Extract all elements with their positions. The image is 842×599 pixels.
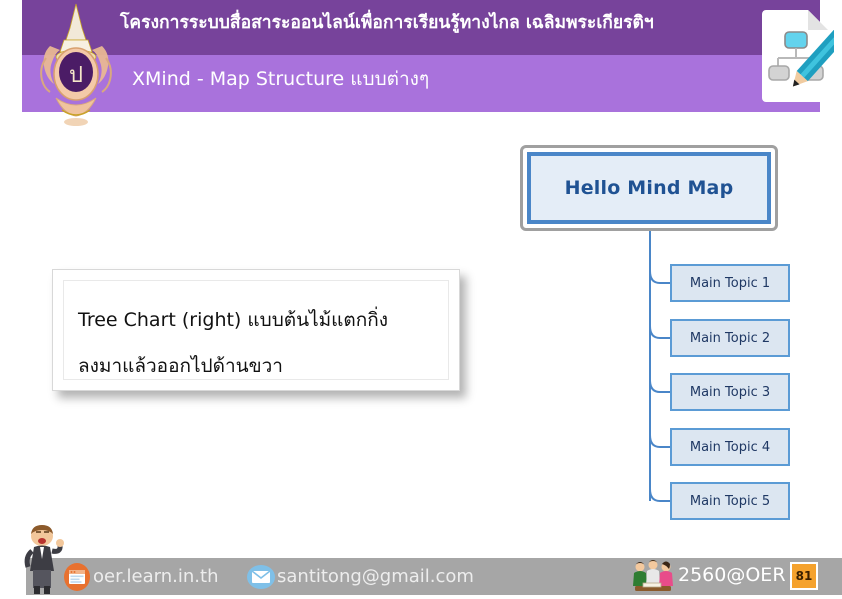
mindmap-topic-node[interactable]: Main Topic 1 [670,264,790,302]
footer-year-tag: 2560@OER [678,564,786,586]
description-line-1: Tree Chart (right) แบบต้นไม้แตกกิ่ง [78,297,448,343]
mindmap-root-label: Hello Mind Map [565,177,734,199]
page-number-badge: 81 [790,562,818,590]
mindmap-topic-node[interactable]: Main Topic 3 [670,373,790,411]
description-line-2: ลงมาแล้วออกไปด้านขวา [78,343,448,389]
slide-header: โครงการระบบสื่อสาระออนไลน์เพื่อการเรียนร… [22,0,820,112]
children-reading-icon [631,559,675,593]
mindmap-topic-node[interactable]: Main Topic 4 [670,428,790,466]
mindmap-topic-node[interactable]: Main Topic 5 [670,482,790,520]
description-callout-inner: Tree Chart (right) แบบต้นไม้แตกกิ่ง ลงมา… [63,280,449,380]
cartoon-presenter-icon [14,524,70,595]
mindmap-root-node[interactable]: Hello Mind Map [523,148,775,228]
browser-window-icon[interactable] [64,563,90,591]
mindmap-topic-label: Main Topic 5 [690,494,770,509]
mindmap-topic-label: Main Topic 4 [690,440,770,455]
description-callout: Tree Chart (right) แบบต้นไม้แตกกิ่ง ลงมา… [52,269,460,391]
xmind-document-pencil-icon [756,4,834,104]
slide-subtitle: XMind - Map Structure แบบต่างๆ [132,64,429,94]
svg-text:ป: ป [69,63,83,88]
project-title: โครงการระบบสื่อสาระออนไลน์เพื่อการเรียนร… [120,9,720,37]
footer-website-text[interactable]: oer.learn.in.th [93,566,218,587]
mindmap-topic-label: Main Topic 3 [690,385,770,400]
mindmap-topic-node[interactable]: Main Topic 2 [670,319,790,357]
envelope-icon[interactable] [247,565,275,589]
mindmap-topic-label: Main Topic 1 [690,276,770,291]
royal-garuda-seal-icon: ป [26,2,126,130]
footer-email-text[interactable]: santitong@gmail.com [277,566,474,587]
mindmap-topic-label: Main Topic 2 [690,331,770,346]
